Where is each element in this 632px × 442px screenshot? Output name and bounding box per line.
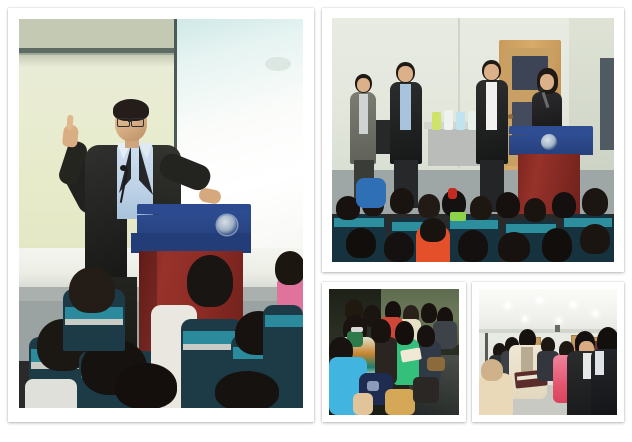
person-head-foreground: [481, 359, 503, 381]
side-table: [428, 126, 482, 166]
photo-lobby-conversation[interactable]: [479, 289, 617, 415]
seat-accent: [450, 220, 498, 229]
panelist-shirt: [359, 94, 368, 134]
audience-head: [542, 228, 572, 262]
wall-trim-highlight: [19, 53, 179, 55]
audience-head: [417, 325, 435, 347]
audience-head: [421, 303, 437, 323]
water-bottle: [432, 112, 441, 130]
audience-light-shoulder: [25, 379, 77, 408]
ceiling-downlight-icon: [537, 298, 542, 303]
audience-head: [346, 228, 376, 258]
door-handle-icon: [508, 114, 513, 119]
shirt-collar: [595, 351, 604, 375]
audience-head: [384, 232, 414, 262]
speaker-glasses-left-lens: [117, 118, 130, 127]
water-bottle: [456, 112, 465, 130]
audience-head: [498, 232, 530, 262]
photo-frame-audience-row[interactable]: [322, 282, 466, 422]
speaker-glasses-right-lens: [131, 118, 144, 127]
audience-head: [395, 321, 414, 345]
audience-blue-hood: [356, 178, 386, 208]
audience-head: [69, 267, 115, 313]
audience-lap: [385, 389, 415, 415]
ceiling-downlight-icon: [505, 303, 510, 308]
audience-head: [582, 188, 608, 216]
red-bottle: [448, 188, 457, 199]
audience-head: [580, 224, 610, 254]
institution-emblem-icon: [217, 215, 237, 235]
panelist-shirt: [486, 82, 497, 130]
photo-main-speaker[interactable]: [19, 19, 303, 408]
audience-head: [275, 251, 303, 285]
wall-sign: [555, 325, 560, 332]
photo-collage: [0, 0, 632, 442]
audience-head: [187, 255, 233, 307]
water-bottle: [444, 110, 453, 130]
audience-head: [115, 363, 177, 408]
shoe: [427, 357, 445, 371]
photo-panel-speakers[interactable]: [332, 18, 614, 262]
audience-head: [524, 198, 546, 222]
microphone-head-icon: [120, 165, 127, 171]
institution-emblem-icon: [541, 134, 557, 150]
photo-frame-panel-speakers[interactable]: [322, 8, 624, 272]
hand: [353, 393, 373, 415]
lectern-front-panel: [131, 233, 251, 253]
audience-head: [458, 230, 488, 262]
ceiling-downlight-icon: [557, 319, 561, 323]
audience-head: [420, 218, 446, 242]
panelist-shirt: [400, 84, 411, 130]
green-item: [450, 212, 466, 221]
handheld-microphone-icon: [538, 87, 543, 92]
audience-head: [390, 188, 414, 214]
wall-upper-band: [19, 19, 179, 49]
photo-frame-main-speaker[interactable]: [8, 8, 314, 422]
panelist-face: [484, 64, 499, 80]
audience-head: [496, 192, 520, 218]
audience-head: [552, 192, 576, 218]
ceiling-cove-line: [479, 329, 617, 333]
panelist-face: [398, 66, 413, 82]
bag-logo: [367, 381, 379, 391]
shoe: [413, 377, 439, 403]
speaker-pointing-finger: [66, 115, 73, 130]
audience-head: [215, 371, 279, 408]
audience-head: [371, 319, 391, 343]
speaker-glasses-bridge: [128, 121, 132, 122]
screen-watermark: [265, 57, 291, 71]
photo-audience-row[interactable]: [329, 289, 459, 415]
photo-frame-lobby-conversation[interactable]: [472, 282, 624, 422]
audience-head: [470, 196, 492, 220]
panelist-face: [357, 78, 370, 92]
ceiling-downlight-icon: [523, 317, 527, 321]
ceiling-downlight-icon: [571, 302, 576, 307]
audience-head: [418, 194, 440, 218]
seat-back-trim: [65, 319, 123, 325]
seat-back-accent: [265, 315, 303, 327]
ceiling-downlight-icon: [593, 311, 598, 316]
eyeglasses-icon: [351, 327, 363, 332]
right-wall-panel: [600, 58, 614, 150]
